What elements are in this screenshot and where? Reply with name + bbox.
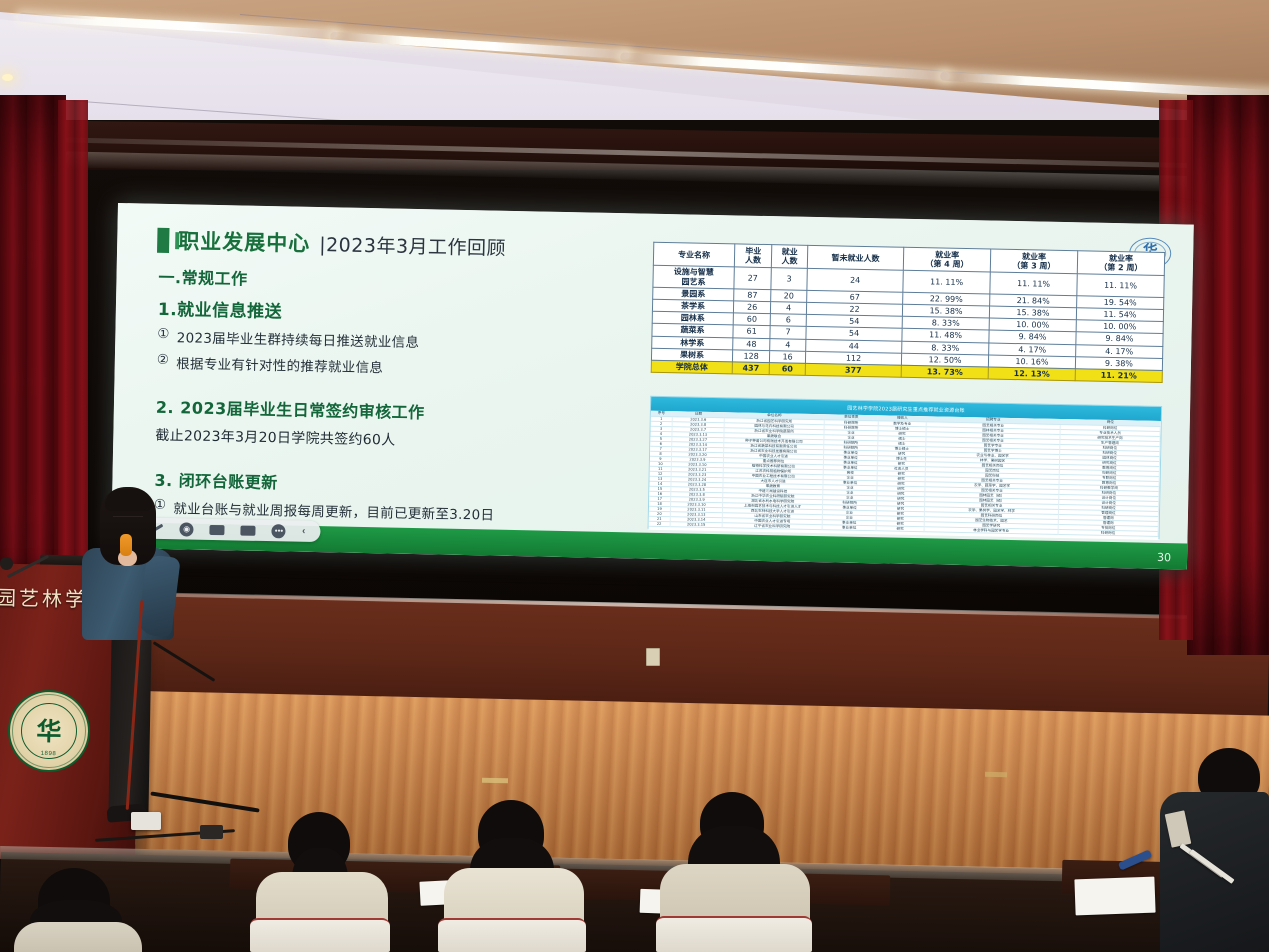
table-cell-value: 11. 11% (990, 272, 1077, 295)
ledger-cell: 22 (649, 521, 671, 526)
section-heading-1: 一.常规工作 (158, 264, 698, 299)
ledger-grid: 序号日期单位名称单位性质接收人招聘专业岗位12023.3.6浙江省园艺科学研究所… (649, 411, 1161, 540)
table-cell-value: 13. 73% (901, 365, 988, 379)
table-cell-value: 4 (771, 302, 807, 315)
table-cell-name: 设施与智慧园艺系 (653, 266, 734, 289)
section-text-2: 截止2023年3月20日学院共签约60人 (155, 425, 695, 456)
slide-page-number: 30 (1157, 551, 1171, 564)
section-heading-2: 1.就业信息推送 (158, 295, 698, 331)
ledger-cell: 科研岗位 (1059, 529, 1159, 536)
slide-title-sub: |2023年3月工作回顾 (319, 230, 506, 261)
seat-back (438, 918, 586, 952)
seal-outer-ring (11, 693, 87, 769)
bullet-text: 2023届毕业生群持续每日推送就业信息 (177, 326, 420, 351)
title-accent-bar (157, 227, 169, 252)
table-cell-value: 26 (733, 301, 770, 314)
presentation-slide: 职业发展中心 |2023年3月工作回顾 华 一.常规工作 1.就业信息推送 ① … (111, 203, 1194, 570)
slide-title-main: 职业发展中心 (178, 225, 311, 258)
table-header-cell: 就业率（第 2 周） (1077, 251, 1164, 276)
slide-body-left: 一.常规工作 1.就业信息推送 ① 2023届毕业生群持续每日推送就业信息 ② … (153, 262, 699, 554)
wall-outlet (646, 648, 660, 666)
section-heading-4: 3. 闭环台账更新 (154, 467, 694, 502)
bullet-text: 根据专业有针对性的推荐就业信息 (176, 352, 383, 376)
ledger-cell: 事业单位 (823, 525, 877, 531)
section-heading-3: 2. 2023届毕业生日常签约审核工作 (156, 394, 696, 429)
table-header-cell: 就业率（第 4 周） (903, 247, 990, 272)
table-cell-value: 128 (732, 350, 769, 363)
table-cell-value: 11. 21% (1075, 369, 1162, 383)
ledger-cell: 2023.3.15 (671, 522, 723, 528)
table-header-cell: 就业率（第 3 周） (990, 249, 1077, 274)
table-cell-value: 27 (734, 267, 772, 289)
table-cell-value: 48 (733, 337, 770, 350)
laser-icon[interactable]: ◉ (179, 522, 193, 536)
seal-year: 1898 (41, 751, 57, 757)
table-cell-value: 61 (733, 325, 770, 338)
table-cell-value: 12. 13% (988, 367, 1075, 381)
table-cell-value: 20 (771, 289, 807, 302)
seat-back (250, 918, 390, 952)
table-cell-value: 87 (734, 289, 771, 302)
bullet-item: ② 根据专业有针对性的推荐就业信息 (157, 352, 697, 383)
table-cell-value: 60 (769, 362, 805, 375)
equipment-box (200, 825, 223, 839)
handheld-microphone (120, 534, 132, 556)
stage-curtain-right (1187, 95, 1269, 655)
audience-jacket (14, 922, 142, 952)
presenter-toolbar[interactable]: ◉ ••• ‹ (135, 517, 320, 542)
table-cell-value: 3 (771, 268, 807, 290)
table-cell-value: 6 (770, 314, 806, 327)
table-cell-value: 437 (732, 362, 769, 375)
slides-icon[interactable] (210, 524, 225, 534)
stage-tape-mark (482, 778, 508, 784)
notes-icon[interactable] (241, 525, 256, 535)
seat-back (656, 916, 812, 952)
bullet-number: ② (157, 352, 170, 372)
table-cell-value: 377 (805, 363, 901, 377)
table-cell-value: 11. 11% (903, 271, 990, 294)
ledger-cell: 辽宁省农业科学研究院 (723, 523, 823, 530)
bullet-number: ① (157, 326, 170, 346)
table-cell-value: 16 (770, 350, 806, 363)
speaker-bangs (105, 489, 152, 511)
ledger-cell: 研究 (877, 526, 925, 532)
notebook (1074, 877, 1155, 916)
table-cell-value: 24 (807, 269, 904, 292)
power-strip (131, 812, 161, 830)
employment-stats-table-wrap: 专业名称毕业人数就业人数暂未就业人数就业率（第 4 周）就业率（第 3 周）就业… (651, 242, 1166, 383)
table-cell-value: 60 (733, 313, 770, 326)
table-cell-value: 4 (770, 338, 806, 351)
table-header-cell: 暂未就业人数 (807, 245, 904, 270)
stage-tape-mark (985, 772, 1007, 777)
ledger-banner-text: 园艺林学学院2023届研究生重点推荐就业资源台账 (847, 404, 965, 413)
table-cell-name: 学院总体 (651, 360, 732, 374)
table-header-cell: 就业人数 (771, 245, 807, 269)
table-cell-value: 11. 11% (1077, 274, 1164, 297)
downlight (2, 74, 13, 81)
projection-screen: 职业发展中心 |2023年3月工作回顾 华 一.常规工作 1.就业信息推送 ① … (111, 203, 1194, 570)
table-header-cell: 毕业人数 (734, 244, 772, 268)
bullet-item: ① 2023届毕业生群持续每日推送就业信息 (157, 326, 697, 357)
stage-curtain-left-inner (58, 100, 88, 630)
auditorium-scene: 职业发展中心 |2023年3月工作回顾 华 一.常规工作 1.就业信息推送 ① … (0, 0, 1269, 952)
microphone-head-icon (0, 557, 13, 570)
table-cell-value: 7 (770, 326, 806, 339)
more-icon[interactable]: ••• (272, 524, 286, 538)
employment-stats-table: 专业名称毕业人数就业人数暂未就业人数就业率（第 4 周）就业率（第 3 周）就业… (651, 242, 1166, 383)
table-header-cell: 专业名称 (653, 242, 734, 267)
back-icon[interactable]: ‹ (302, 526, 306, 537)
ledger-spreadsheet: 园艺林学学院2023届研究生重点推荐就业资源台账 序号日期单位名称单位性质接收人… (648, 396, 1163, 539)
speaker-glasses (113, 516, 143, 524)
